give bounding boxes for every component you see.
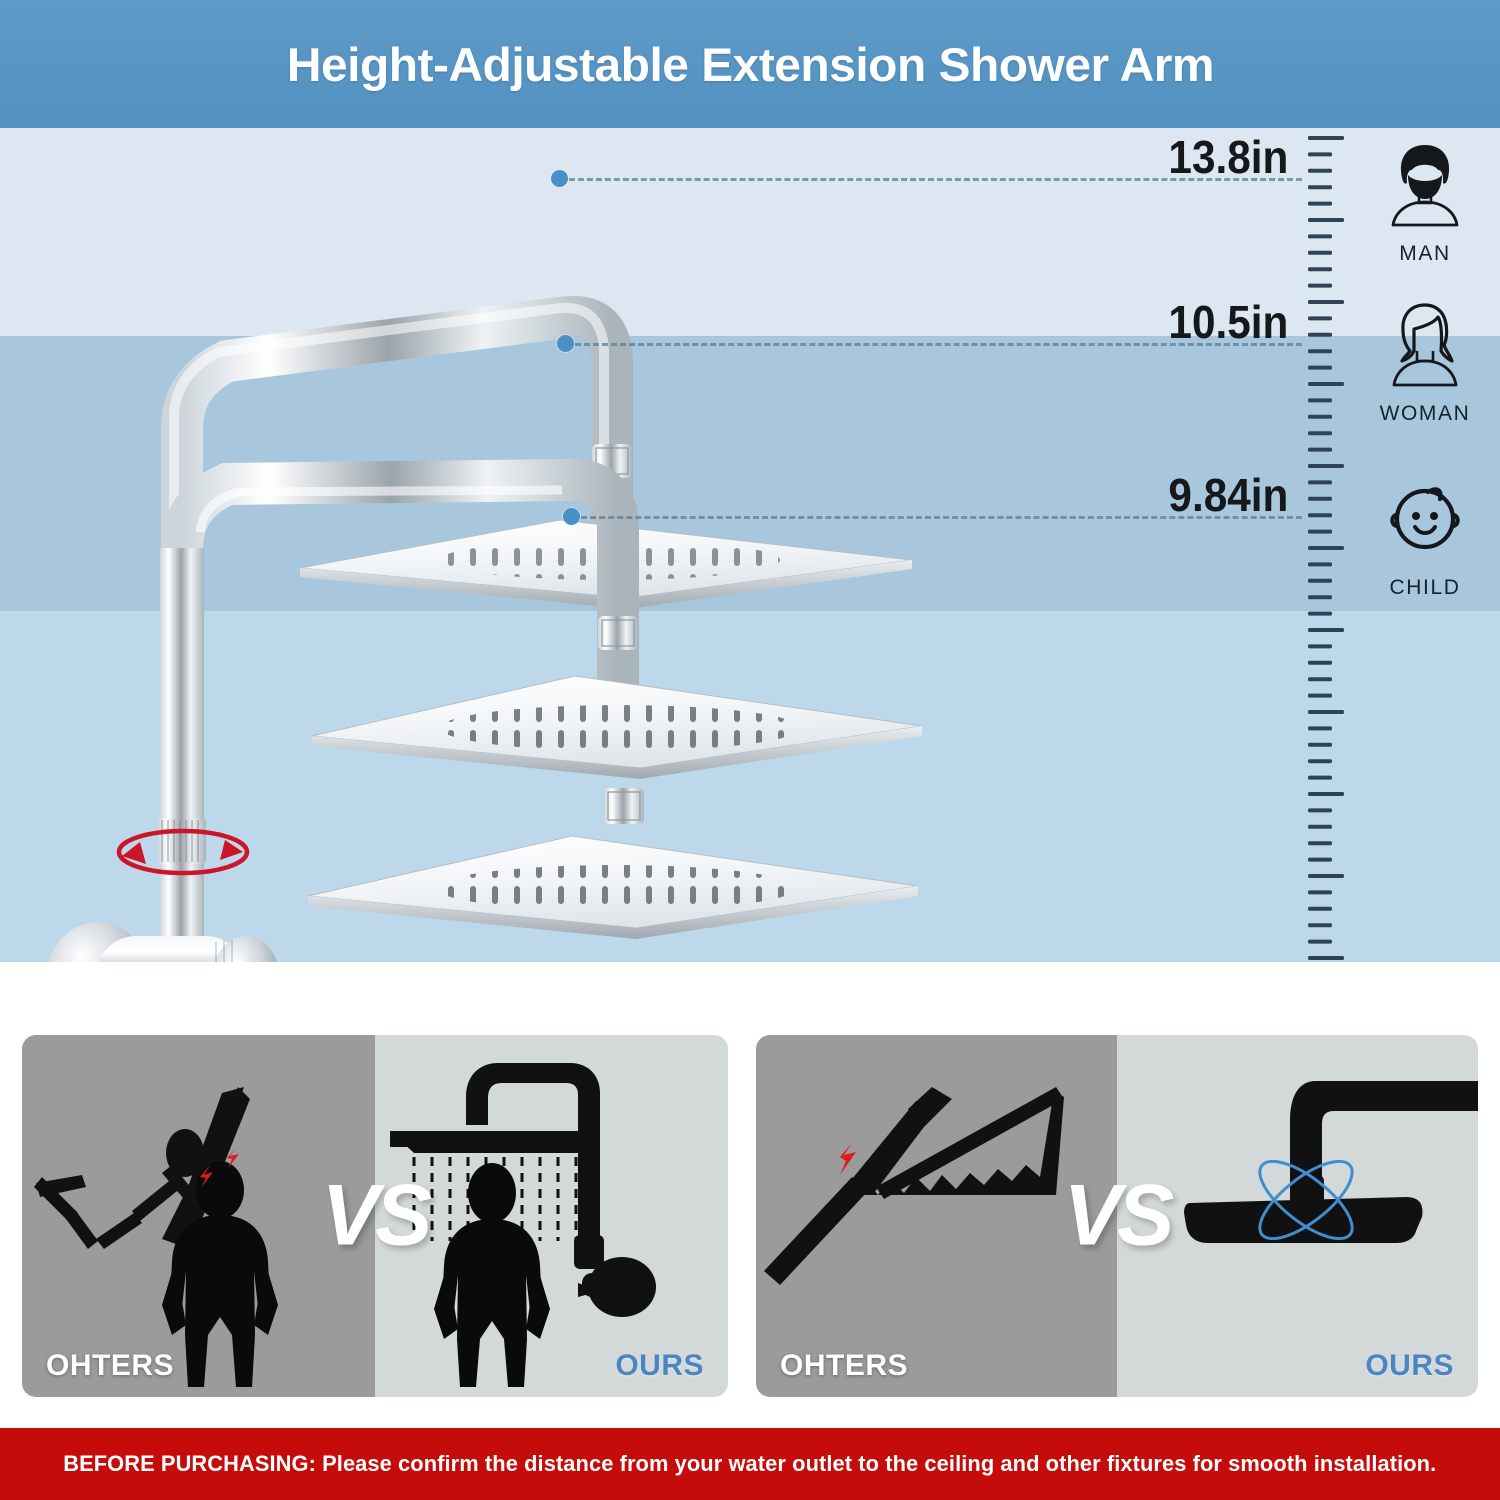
person-man: MAN [1350,128,1500,266]
measure-label-3: 9.84in [1168,468,1288,522]
panel2-vs-label: VS [1064,1167,1171,1266]
product-illustration [0,128,1000,962]
panel-height-comparison: VS OHTERS OURS [22,1035,728,1397]
showerhead-mid [312,676,922,779]
measure-label-1: 13.8in [1168,130,1288,184]
before-purchasing-text: BEFORE PURCHASING: Please confirm the di… [63,1451,1436,1477]
person-label-woman: WOMAN [1350,402,1500,426]
panel1-others-label: OHTERS [46,1349,174,1383]
panel1-vs-label: VS [322,1167,429,1266]
cracked-shower-arm-icon [764,1087,1064,1285]
measure-label-2: 10.5in [1168,295,1288,349]
comparison-panels: VS OHTERS OURS [0,1035,1500,1397]
connector-nut-low [604,788,644,824]
panel2-others-label: OHTERS [780,1349,908,1383]
person-child: CHILD [1350,462,1500,600]
measure-dot-3 [563,508,580,525]
woman-face-icon [1350,288,1500,398]
riser-pipe [160,548,204,962]
person-woman: WOMAN [1350,288,1500,426]
connector-nut-mid [598,616,638,650]
panel2-ours-label: OURS [1365,1349,1454,1383]
panel-durability-comparison: VS OHTERS OURS [756,1035,1478,1397]
man-face-icon [1350,128,1500,238]
person-label-man: MAN [1350,242,1500,266]
product-infographic: Height-Adjustable Extension Shower Arm [0,0,1500,1500]
hero-measurement-area: 13.8in 10.5in 9.84in [0,128,1500,962]
measure-dot-2 [557,335,574,352]
before-purchasing-banner: BEFORE PURCHASING: Please confirm the di… [0,1428,1500,1500]
others-person-silhouette [162,1161,278,1387]
showerhead-low [308,836,918,939]
page-title: Height-Adjustable Extension Shower Arm [286,37,1213,92]
rotation-collar [158,818,206,864]
crack-spark-icon [840,1143,856,1175]
measure-dot-1 [551,170,568,187]
person-label-child: CHILD [1350,576,1500,600]
header-banner: Height-Adjustable Extension Shower Arm [0,0,1500,128]
panel1-ours-label: OURS [615,1349,704,1383]
child-face-icon [1350,462,1500,572]
